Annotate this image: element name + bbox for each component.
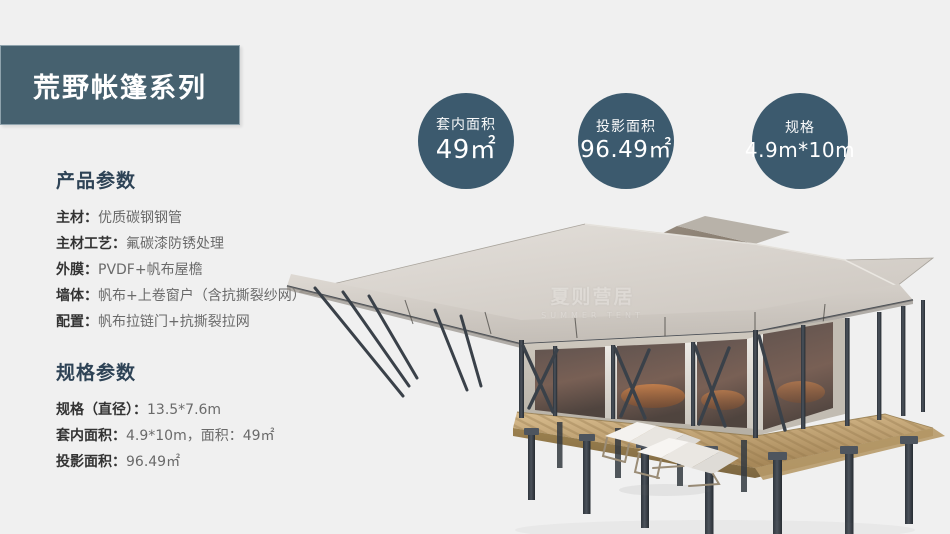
spec-value: PVDF+帆布屋檐 xyxy=(98,262,203,278)
size-params-heading: 规格参数 xyxy=(56,358,275,385)
slide-canvas: 荒野帐篷系列 产品参数 主材：优质碳钢钢管 主材工艺：氟碳漆防锈处理 外膜：PV… xyxy=(0,0,950,534)
spec-value: 帆布+上卷窗户（含抗撕裂纱网） xyxy=(98,288,306,304)
spec-row: 主材工艺：氟碳漆防锈处理 xyxy=(56,231,306,257)
spec-value: 优质碳钢钢管 xyxy=(98,210,182,226)
badge-value: 49㎡ xyxy=(436,137,497,164)
page-title: 荒野帐篷系列 xyxy=(33,66,207,105)
spec-value: 96.49㎡ xyxy=(126,454,180,470)
spec-label: 规格（直径）： xyxy=(56,402,147,418)
badge-dimensions: 规格 4.9m*10m xyxy=(752,93,848,189)
spec-label: 套内面积： xyxy=(56,428,126,444)
spec-label: 主材： xyxy=(56,210,98,226)
spec-row: 外膜：PVDF+帆布屋檐 xyxy=(56,257,306,283)
spec-row: 墙体：帆布+上卷窗户（含抗撕裂纱网） xyxy=(56,283,306,309)
badge-label: 规格 xyxy=(785,121,815,136)
spec-label: 主材工艺： xyxy=(56,236,126,252)
title-banner: 荒野帐篷系列 xyxy=(0,45,240,125)
spec-row: 配置：帆布拉链门+抗撕裂拉网 xyxy=(56,309,306,335)
spec-value: 氟碳漆防锈处理 xyxy=(126,236,224,252)
badge-projected-area: 投影面积 96.49㎡ xyxy=(578,93,674,189)
spec-value: 13.5*7.6m xyxy=(147,402,221,418)
spec-label: 外膜： xyxy=(56,262,98,278)
size-params-section: 规格参数 规格（直径）：13.5*7.6m 套内面积：4.9*10m，面积：49… xyxy=(56,358,275,475)
product-params-section: 产品参数 主材：优质碳钢钢管 主材工艺：氟碳漆防锈处理 外膜：PVDF+帆布屋檐… xyxy=(56,166,306,335)
spec-label: 投影面积： xyxy=(56,454,126,470)
spec-value: 帆布拉链门+抗撕裂拉网 xyxy=(98,314,250,330)
tent-render-image xyxy=(285,200,950,534)
spec-row: 套内面积：4.9*10m，面积：49㎡ xyxy=(56,423,275,449)
badge-label: 套内面积 xyxy=(436,118,496,133)
spec-value: 4.9*10m，面积：49㎡ xyxy=(126,428,275,444)
badge-value: 4.9m*10m xyxy=(745,140,855,161)
spec-row: 规格（直径）：13.5*7.6m xyxy=(56,397,275,423)
badge-value: 96.49㎡ xyxy=(580,138,672,162)
spec-row: 主材：优质碳钢钢管 xyxy=(56,205,306,231)
spec-label: 配置： xyxy=(56,314,98,330)
spec-label: 墙体： xyxy=(56,288,98,304)
product-params-heading: 产品参数 xyxy=(56,166,306,193)
badge-interior-area: 套内面积 49㎡ xyxy=(418,93,514,189)
badge-label: 投影面积 xyxy=(596,120,656,135)
spec-row: 投影面积：96.49㎡ xyxy=(56,449,275,475)
